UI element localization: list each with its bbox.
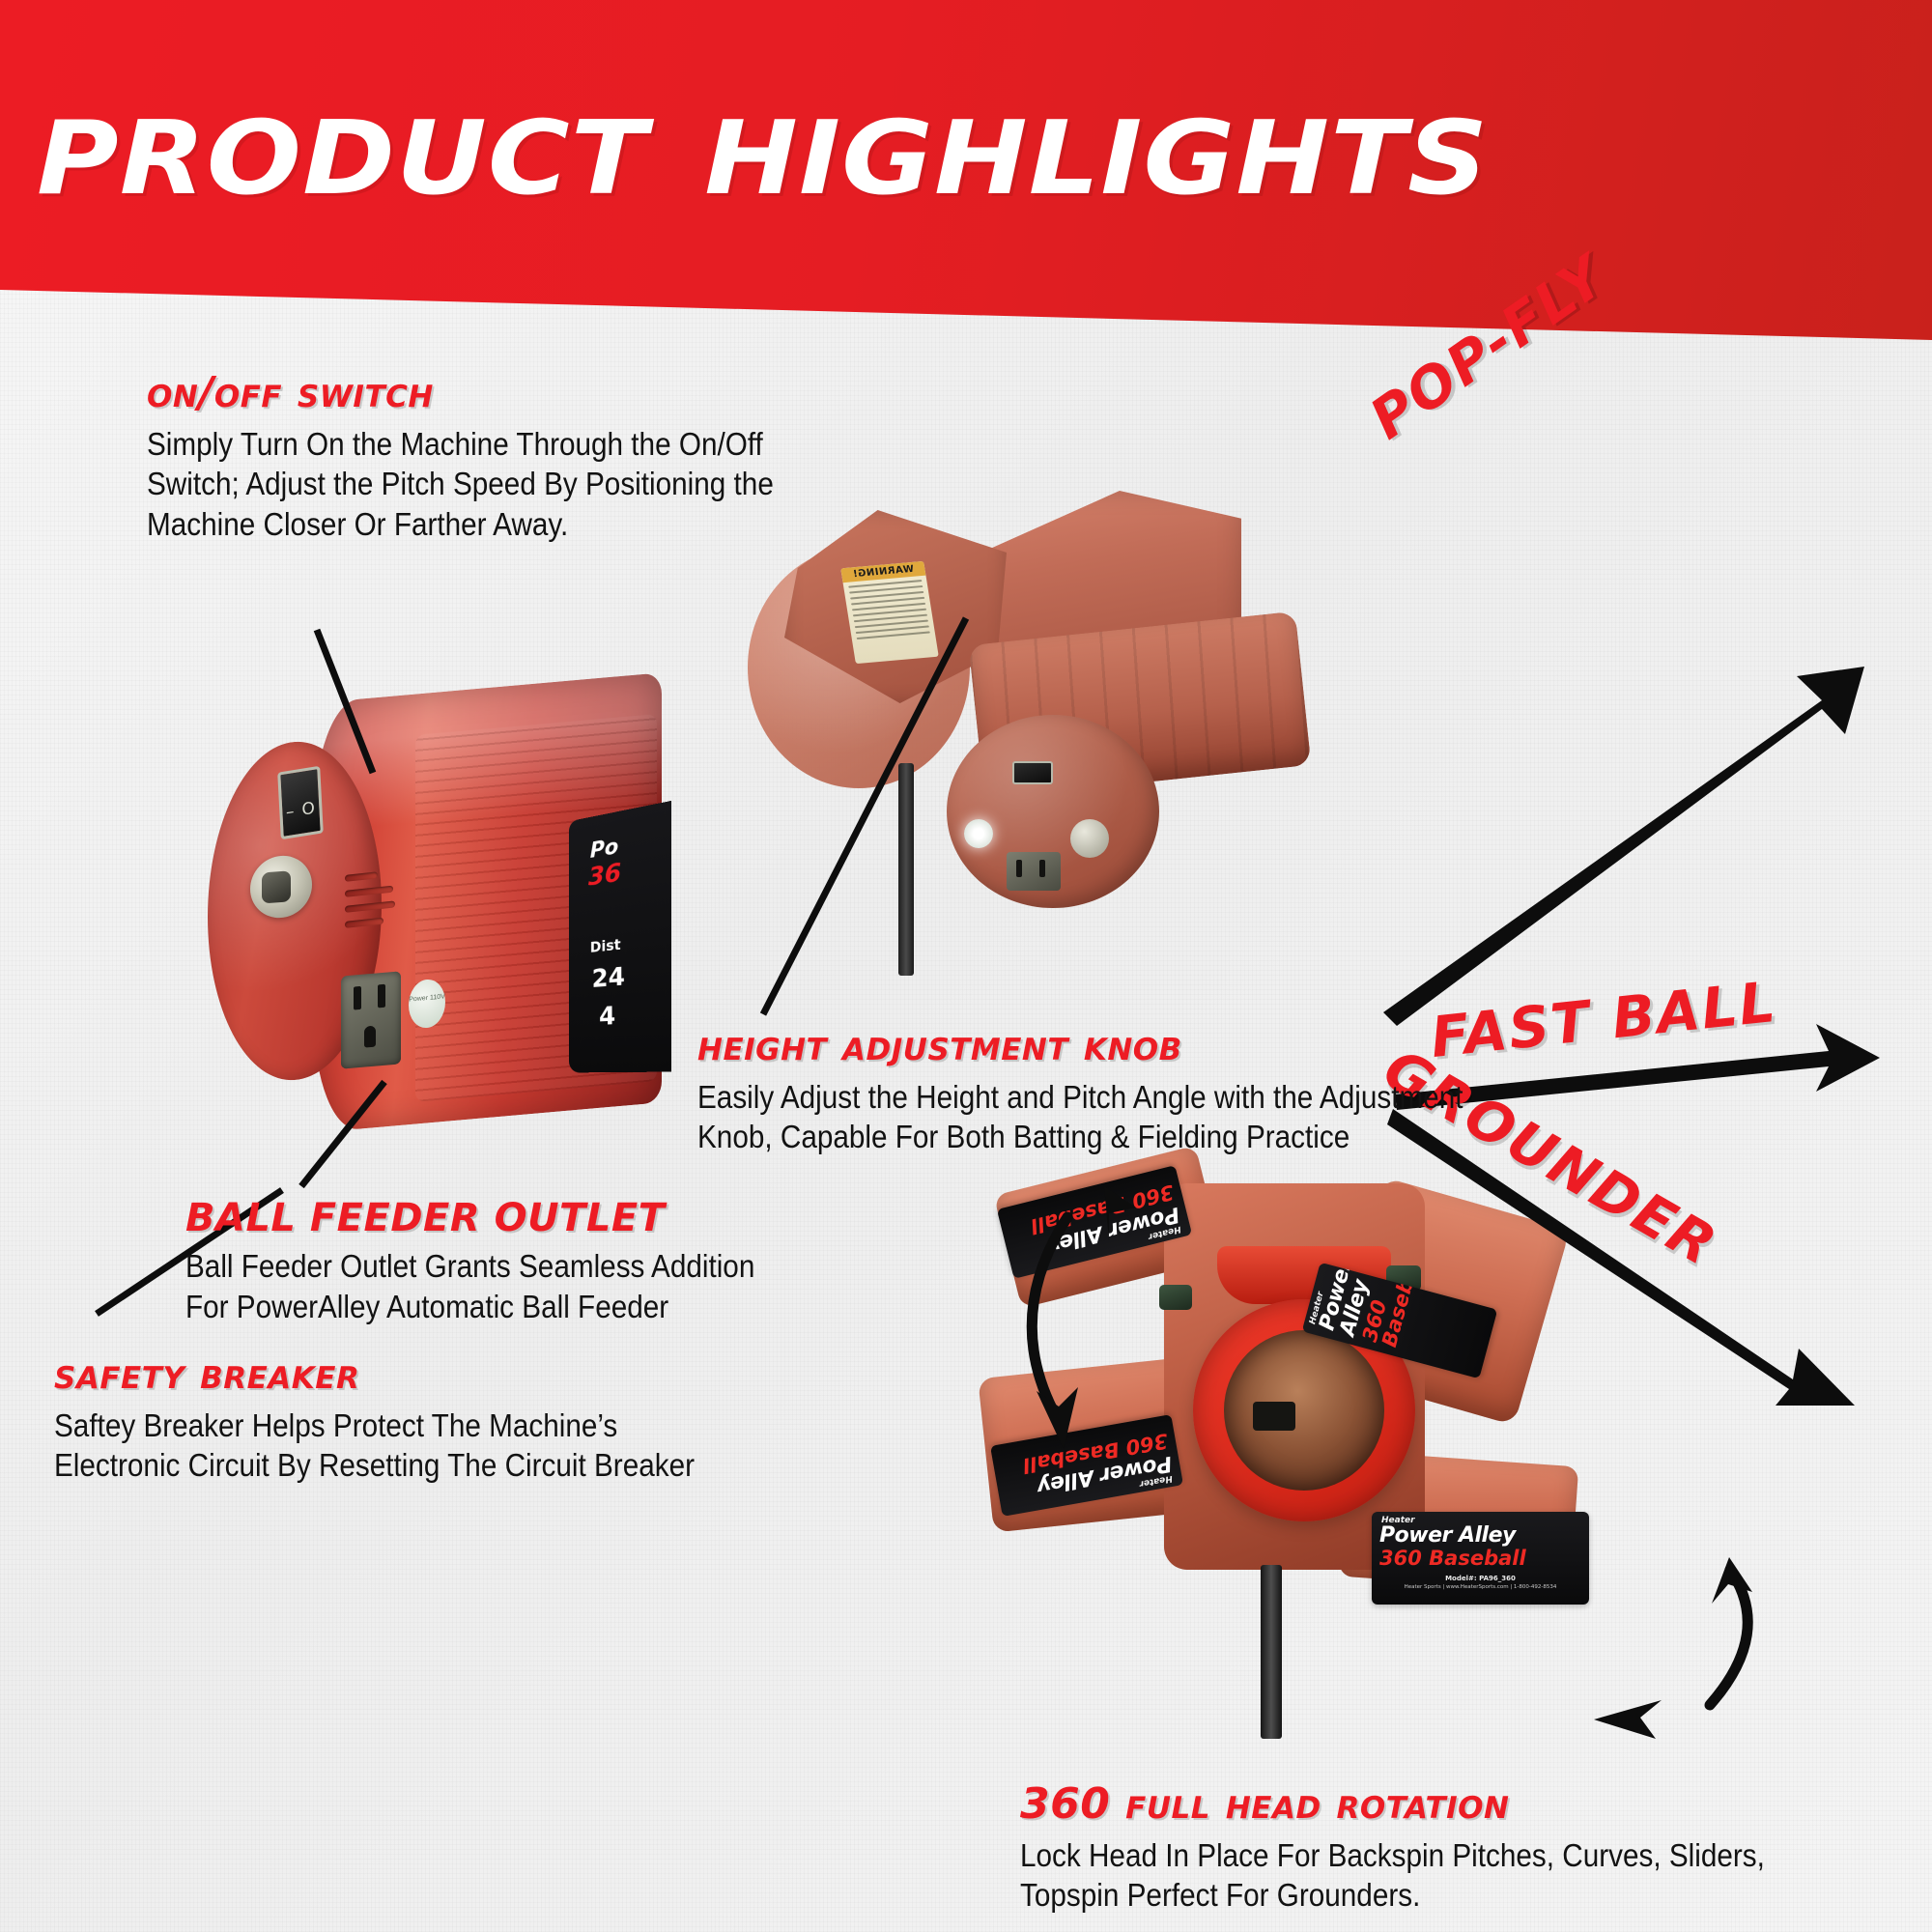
switch-off-glyph: O [301,799,316,820]
callout-body-line: Simply Turn On the Machine Through the O… [147,424,774,465]
callout-body: Saftey Breaker Helps Protect The Machine… [54,1406,695,1486]
pop-fly-arrow-icon [1383,667,1864,1026]
callout-body-line: Saftey Breaker Helps Protect The Machine… [54,1406,695,1446]
rotation-arrowhead-right-top [1712,1557,1752,1604]
callout-body-line: For PowerAlley Automatic Ball Feeder [185,1287,754,1327]
poster-canvas: Product Highlights Po 36 Dist 24 4 – O [0,0,1932,1932]
head-outlet-slot-right [1039,860,1045,877]
callout-body: Ball Feeder Outlet Grants Seamless Addit… [185,1246,754,1326]
callout-full-head-rotation: 360 Full Head Rotation Lock Head In Plac… [1020,1782,1848,1916]
callout-heading: 360 Full Head Rotation [1020,1782,1848,1828]
brand-360-baseball-text: 360 Baseball [1372,1547,1589,1569]
head-outlet-socket[interactable] [1007,852,1061,891]
brand-label-front: Heater Power Alley 360 Baseball Model#: … [1372,1512,1589,1605]
callout-body: Simply Turn On the Machine Through the O… [147,424,774,545]
brand-contact-text: Heater Sports | www.HeaterSports.com | 1… [1372,1582,1589,1590]
product-photo-rear-panel: Po 36 Dist 24 4 – O Power 110V [208,667,662,1150]
callout-ball-feeder-outlet: BALL FEEDER OUTLET Ball Feeder Outlet Gr… [185,1198,818,1327]
callout-body-line: Electronic Circuit By Resetting The Circ… [54,1445,695,1486]
callout-body-line: Easily Adjust the Height and Pitch Angle… [697,1077,1463,1118]
vent-slot [345,918,384,928]
head-support-pole [898,763,914,976]
on-off-rocker-switch[interactable]: – O [277,766,324,839]
head-rocker-switch[interactable] [1012,761,1053,784]
callout-body-line: Lock Head In Place For Backspin Pitches,… [1020,1835,1765,1876]
callout-heading: Safety Breaker [54,1352,766,1398]
product-photo-full-machine: Heater Power Alley 360 Baseball Model#: … [985,1140,1662,1739]
machine-ball-exit-bore [1224,1330,1384,1491]
machine-support-post [1261,1565,1282,1739]
callout-heading: On/Off Switch [147,371,843,416]
head-outlet-slot-left [1016,860,1022,877]
switch-on-glyph: – [285,802,296,822]
head-breaker-knob[interactable] [1070,819,1109,858]
rotation-arc-right [1710,1570,1747,1705]
callout-heading: BALL FEEDER OUTLET [185,1198,818,1238]
sticker-distance-value-2: 4 [569,988,671,1033]
head-indicator-light-icon [964,819,993,848]
callout-body: Lock Head In Place For Backspin Pitches,… [1020,1835,1765,1916]
machine-exit-tab [1253,1402,1295,1431]
outlet-slot-left [354,986,361,1010]
brand-power-alley-text: Power Alley [1372,1525,1589,1547]
rear-spec-sticker: Po 36 Dist 24 4 [569,801,671,1073]
vent-slots [345,867,416,958]
vent-slot [345,886,393,897]
callout-body-line: Ball Feeder Outlet Grants Seamless Addit… [185,1246,754,1287]
callout-body-line: Knob, Capable For Both Batting & Fieldin… [697,1117,1463,1157]
callout-body-line: Machine Closer Or Farther Away. [147,504,774,545]
ball-feeder-outlet-socket[interactable] [341,971,401,1068]
machine-lock-knob-left[interactable] [1159,1285,1192,1310]
callout-body-line: Switch; Adjust the Pitch Speed By Positi… [147,464,774,504]
callout-safety-breaker: Safety Breaker Saftey Breaker Helps Prot… [54,1352,766,1486]
callout-on-off-switch: On/Off Switch Simply Turn On the Machine… [147,371,843,544]
vent-slot [345,900,395,912]
brand-model-text: Model#: PA96_360 [1372,1569,1589,1582]
callout-heading: Height Adjustment Knob [697,1024,1548,1069]
head-rear-cap [947,715,1159,908]
callout-body-line: Topspin Perfect For Grounders. [1020,1875,1765,1916]
warning-label-text-lines [843,576,937,648]
outlet-ground-slot [364,1026,376,1048]
outlet-slot-right [378,984,385,1009]
warning-label: WARNING! [840,561,939,664]
sticker-distance-label: Dist [569,880,671,958]
page-title: Product Highlights [37,71,1489,216]
callout-height-adjustment-knob: Height Adjustment Knob Easily Adjust the… [697,1024,1548,1157]
breaker-reset-button[interactable] [262,870,291,903]
callout-body: Easily Adjust the Height and Pitch Angle… [697,1077,1463,1157]
rocker-switch-glyphs: – O [280,769,320,837]
